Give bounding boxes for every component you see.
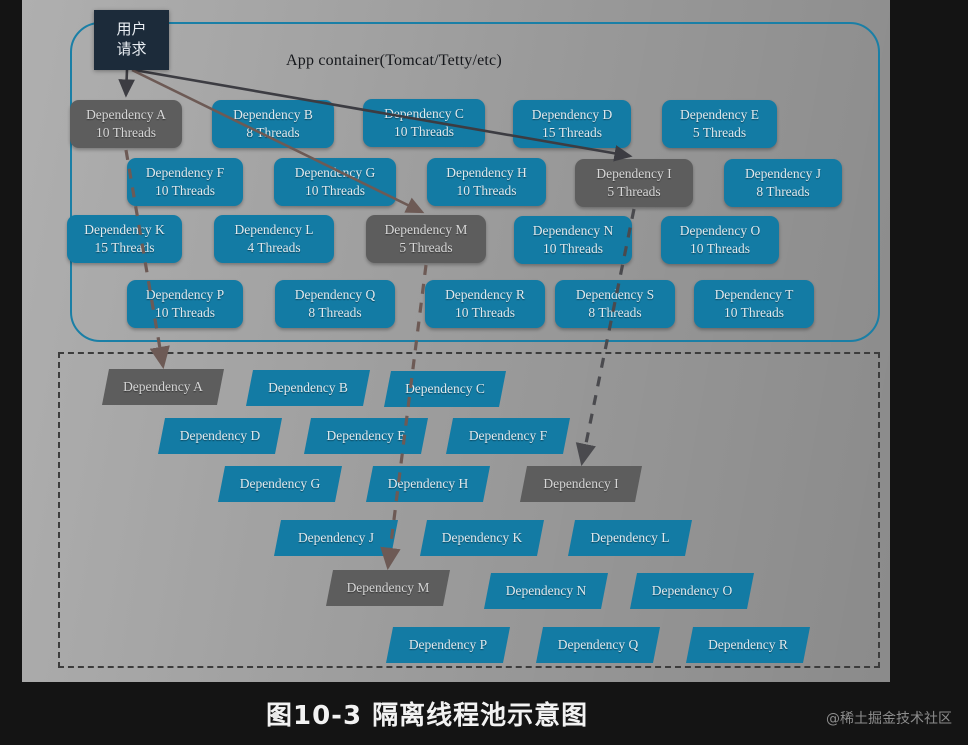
thread-pool-box-k: Dependency K 15 Threads <box>67 215 182 263</box>
thread-pool-box-h: Dependency H 10 Threads <box>427 158 546 206</box>
service-name: Dependency L <box>590 530 669 546</box>
thread-pool-name: Dependency D <box>532 106 613 124</box>
slide-stage: App container(Tomcat/Tetty/etc) 用户 请求 De… <box>0 0 968 745</box>
thread-pool-name: Dependency A <box>86 106 166 124</box>
thread-pool-threads: 10 Threads <box>455 304 515 322</box>
service-name: Dependency P <box>409 637 487 653</box>
thread-pool-box-o: Dependency O 10 Threads <box>661 216 779 264</box>
thread-pool-threads: 10 Threads <box>543 240 603 258</box>
service-box-g: Dependency G <box>218 466 342 502</box>
thread-pool-name: Dependency P <box>146 286 224 304</box>
service-name: Dependency B <box>268 380 348 396</box>
service-box-i: Dependency I <box>520 466 642 502</box>
thread-pool-box-d: Dependency D 15 Threads <box>513 100 631 148</box>
user-request-line-1: 用户 <box>116 20 146 40</box>
service-box-m: Dependency M <box>326 570 450 606</box>
thread-pool-threads: 10 Threads <box>155 304 215 322</box>
service-name: Dependency E <box>326 428 405 444</box>
service-box-o: Dependency O <box>630 573 754 609</box>
thread-pool-box-g: Dependency G 10 Threads <box>274 158 396 206</box>
thread-pool-box-e: Dependency E 5 Threads <box>662 100 777 148</box>
thread-pool-box-i: Dependency I 5 Threads <box>575 159 693 207</box>
thread-pool-name: Dependency E <box>680 106 759 124</box>
thread-pool-name: Dependency M <box>385 221 468 239</box>
thread-pool-box-t: Dependency T 10 Threads <box>694 280 814 328</box>
service-box-r: Dependency R <box>686 627 810 663</box>
service-box-d: Dependency D <box>158 418 282 454</box>
thread-pool-name: Dependency R <box>445 286 525 304</box>
service-box-e: Dependency E <box>304 418 428 454</box>
thread-pool-threads: 5 Threads <box>693 124 746 142</box>
service-box-p: Dependency P <box>386 627 510 663</box>
thread-pool-box-f: Dependency F 10 Threads <box>127 158 243 206</box>
thread-pool-box-s: Dependency S 8 Threads <box>555 280 675 328</box>
thread-pool-threads: 8 Threads <box>246 124 299 142</box>
service-name: Dependency G <box>240 476 321 492</box>
thread-pool-box-q: Dependency Q 8 Threads <box>275 280 395 328</box>
thread-pool-threads: 10 Threads <box>155 182 215 200</box>
thread-pool-box-j: Dependency J 8 Threads <box>724 159 842 207</box>
thread-pool-threads: 4 Threads <box>247 239 300 257</box>
thread-pool-box-l: Dependency L 4 Threads <box>214 215 334 263</box>
watermark-text: @稀土掘金技术社区 <box>826 708 952 728</box>
thread-pool-name: Dependency K <box>84 221 165 239</box>
service-name: Dependency M <box>347 580 430 596</box>
thread-pool-name: Dependency Q <box>295 286 376 304</box>
service-box-h: Dependency H <box>366 466 490 502</box>
service-name: Dependency O <box>652 583 733 599</box>
service-name: Dependency N <box>506 583 587 599</box>
thread-pool-threads: 15 Threads <box>542 124 602 142</box>
thread-pool-name: Dependency H <box>446 164 527 182</box>
thread-pool-threads: 10 Threads <box>394 123 454 141</box>
thread-pool-box-r: Dependency R 10 Threads <box>425 280 545 328</box>
thread-pool-name: Dependency S <box>576 286 654 304</box>
thread-pool-threads: 10 Threads <box>724 304 784 322</box>
service-name: Dependency J <box>298 530 374 546</box>
service-name: Dependency H <box>388 476 469 492</box>
service-name: Dependency I <box>543 476 618 492</box>
service-box-j: Dependency J <box>274 520 398 556</box>
thread-pool-name: Dependency G <box>295 164 376 182</box>
service-box-b: Dependency B <box>246 370 370 406</box>
thread-pool-name: Dependency F <box>146 164 224 182</box>
thread-pool-box-n: Dependency N 10 Threads <box>514 216 632 264</box>
thread-pool-threads: 10 Threads <box>456 182 516 200</box>
thread-pool-threads: 15 Threads <box>94 239 154 257</box>
user-request-line-2: 请求 <box>116 40 146 60</box>
service-name: Dependency R <box>708 637 788 653</box>
thread-pool-threads: 10 Threads <box>96 124 156 142</box>
slide-left-margin <box>0 0 22 682</box>
caption-text: 图10-3 隔离线程池示意图 <box>266 695 588 732</box>
service-box-a: Dependency A <box>102 369 224 405</box>
user-request-box: 用户 请求 <box>94 10 169 70</box>
service-box-n: Dependency N <box>484 573 608 609</box>
thread-pool-threads: 10 Threads <box>690 240 750 258</box>
service-box-k: Dependency K <box>420 520 544 556</box>
slide-right-margin <box>890 0 968 682</box>
service-name: Dependency D <box>180 428 261 444</box>
service-name: Dependency Q <box>558 637 639 653</box>
service-box-l: Dependency L <box>568 520 692 556</box>
service-box-f: Dependency F <box>446 418 570 454</box>
thread-pool-box-a: Dependency A 10 Threads <box>70 100 182 148</box>
thread-pool-threads: 8 Threads <box>588 304 641 322</box>
thread-pool-threads: 5 Threads <box>607 183 660 201</box>
thread-pool-box-b: Dependency B 8 Threads <box>212 100 334 148</box>
thread-pool-name: Dependency J <box>745 165 821 183</box>
service-name: Dependency F <box>469 428 547 444</box>
diagram-canvas: App container(Tomcat/Tetty/etc) 用户 请求 De… <box>22 0 890 682</box>
caption-bullet-icon <box>272 712 279 719</box>
caption-bar: 图10-3 隔离线程池示意图 <box>0 682 968 745</box>
thread-pool-box-p: Dependency P 10 Threads <box>127 280 243 328</box>
app-container-title: App container(Tomcat/Tetty/etc) <box>286 52 502 70</box>
service-name: Dependency A <box>123 379 203 395</box>
thread-pool-name: Dependency C <box>384 105 464 123</box>
thread-pool-threads: 5 Threads <box>399 239 452 257</box>
thread-pool-threads: 8 Threads <box>308 304 361 322</box>
thread-pool-name: Dependency I <box>596 165 671 183</box>
service-box-q: Dependency Q <box>536 627 660 663</box>
thread-pool-name: Dependency T <box>715 286 794 304</box>
thread-pool-box-m: Dependency M 5 Threads <box>366 215 486 263</box>
thread-pool-box-c: Dependency C 10 Threads <box>363 99 485 147</box>
thread-pool-threads: 8 Threads <box>756 183 809 201</box>
thread-pool-threads: 10 Threads <box>305 182 365 200</box>
thread-pool-name: Dependency B <box>233 106 313 124</box>
thread-pool-name: Dependency N <box>533 222 614 240</box>
service-name: Dependency K <box>442 530 523 546</box>
thread-pool-name: Dependency O <box>680 222 761 240</box>
thread-pool-name: Dependency L <box>234 221 313 239</box>
service-name: Dependency C <box>405 381 485 397</box>
service-box-c: Dependency C <box>384 371 506 407</box>
